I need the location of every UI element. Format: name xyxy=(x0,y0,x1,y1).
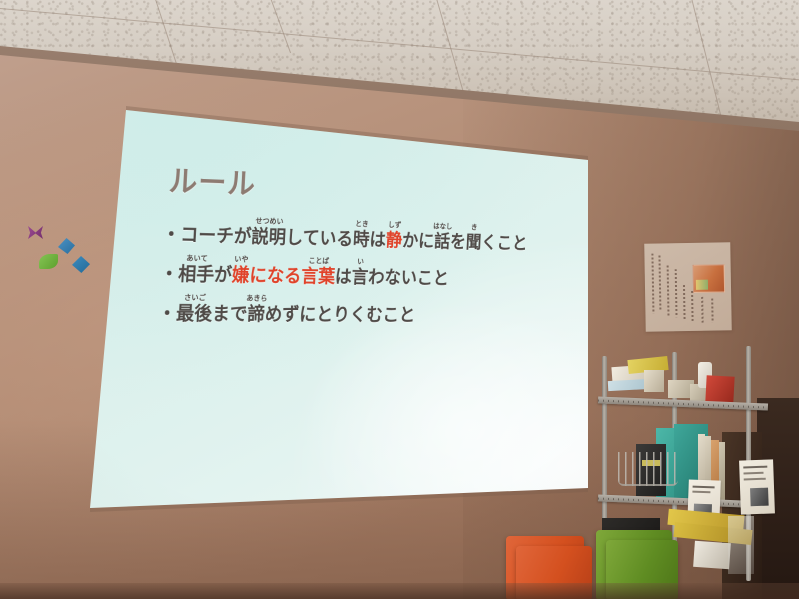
slide-rule-line: ・コーチが説明せつめいしている時ときは静しずかに話はなしを聞きくこと xyxy=(162,225,538,252)
decor-leaf-icon xyxy=(39,254,58,269)
wall-poster xyxy=(644,242,732,331)
shelf-item-red-package xyxy=(705,375,734,402)
ruby-word: 話はなし xyxy=(434,233,451,251)
decor-butterfly-icon xyxy=(28,226,43,239)
slide-content: ルール ・コーチが説明せつめいしている時ときは静しずかに話はなしを聞きくこと・相… xyxy=(97,112,541,503)
poster-text-column xyxy=(711,299,713,323)
plain-word: は xyxy=(369,231,386,249)
ruby-word: 静しず xyxy=(385,232,402,250)
furigana: あいて xyxy=(186,255,208,263)
paper-craft-decorations xyxy=(26,222,106,282)
ruby-word: 時とき xyxy=(353,231,370,249)
floor-shadow xyxy=(0,583,799,599)
slide-rule-line: ・最後さいごまで諦あきらめずにとりくむこと xyxy=(157,305,534,325)
ruby-word: 聞き xyxy=(465,234,481,252)
plain-word: ・ xyxy=(157,305,176,324)
shelf-wire-basket xyxy=(618,452,678,486)
furigana: しず xyxy=(388,221,401,228)
plain-word: は xyxy=(335,268,353,286)
shelf-item-white-box xyxy=(693,541,731,569)
plain-word: が xyxy=(214,266,233,285)
photo-scene: ルール ・コーチが説明せつめいしている時ときは静しずかに話はなしを聞きくこと・相… xyxy=(0,0,799,599)
plain-word: まで xyxy=(212,305,248,324)
plain-word: かに xyxy=(402,232,435,250)
shelf-flyer xyxy=(739,459,775,514)
slide-rule-line: ・相手あいてが嫌いやになる言葉ことばは言いわないこと xyxy=(160,265,536,289)
ruby-word: 諦あきら xyxy=(247,305,265,323)
ruby-word: 言い xyxy=(351,268,368,286)
plain-word: を xyxy=(450,233,467,251)
shelf-item-carton-box xyxy=(644,370,664,392)
poster-text-column xyxy=(701,297,703,323)
ruby-word: 最後さいご xyxy=(176,305,213,324)
plain-word: になる xyxy=(249,267,302,286)
furigana: さいご xyxy=(184,294,206,302)
furigana: はなし xyxy=(433,223,453,230)
plain-word: めずにとりくむこと xyxy=(264,305,415,324)
poster-text-column xyxy=(667,265,670,317)
shelf-rail-top xyxy=(598,396,768,410)
plain-word: している xyxy=(286,229,354,249)
plain-word: くこと xyxy=(481,234,528,252)
poster-text-column xyxy=(651,254,654,314)
plain-word: コーチが xyxy=(180,226,252,246)
plain-word: ・ xyxy=(162,225,181,244)
furigana: いや xyxy=(234,256,249,264)
ruby-word: 言葉ことば xyxy=(301,268,336,287)
ruby-word: 説明せつめい xyxy=(251,228,287,247)
furigana: せつめい xyxy=(255,217,283,225)
decor-diamond-icon xyxy=(72,256,90,273)
poster-text-column xyxy=(691,291,694,321)
decor-diamond-icon xyxy=(58,238,75,254)
poster-text-column xyxy=(675,269,678,317)
furigana: い xyxy=(357,258,364,265)
poster-text-column xyxy=(683,285,686,319)
furigana: ことば xyxy=(308,257,329,265)
slide-title: ルール xyxy=(168,156,257,202)
slide-rule-list: ・コーチが説明せつめいしている時ときは静しずかに話はなしを聞きくこと・相手あいて… xyxy=(156,225,537,344)
furigana: き xyxy=(471,224,478,231)
furigana: あきら xyxy=(246,295,268,302)
furigana: とき xyxy=(355,220,369,227)
plain-word: わないこと xyxy=(368,269,449,288)
ruby-word: 嫌いや xyxy=(231,266,250,285)
poster-text-column xyxy=(658,255,661,311)
plain-word: ・ xyxy=(160,265,179,284)
ruby-word: 相手あいて xyxy=(178,265,215,284)
shelf-item-plastic-sleeve xyxy=(728,516,754,574)
poster-image xyxy=(693,264,725,293)
